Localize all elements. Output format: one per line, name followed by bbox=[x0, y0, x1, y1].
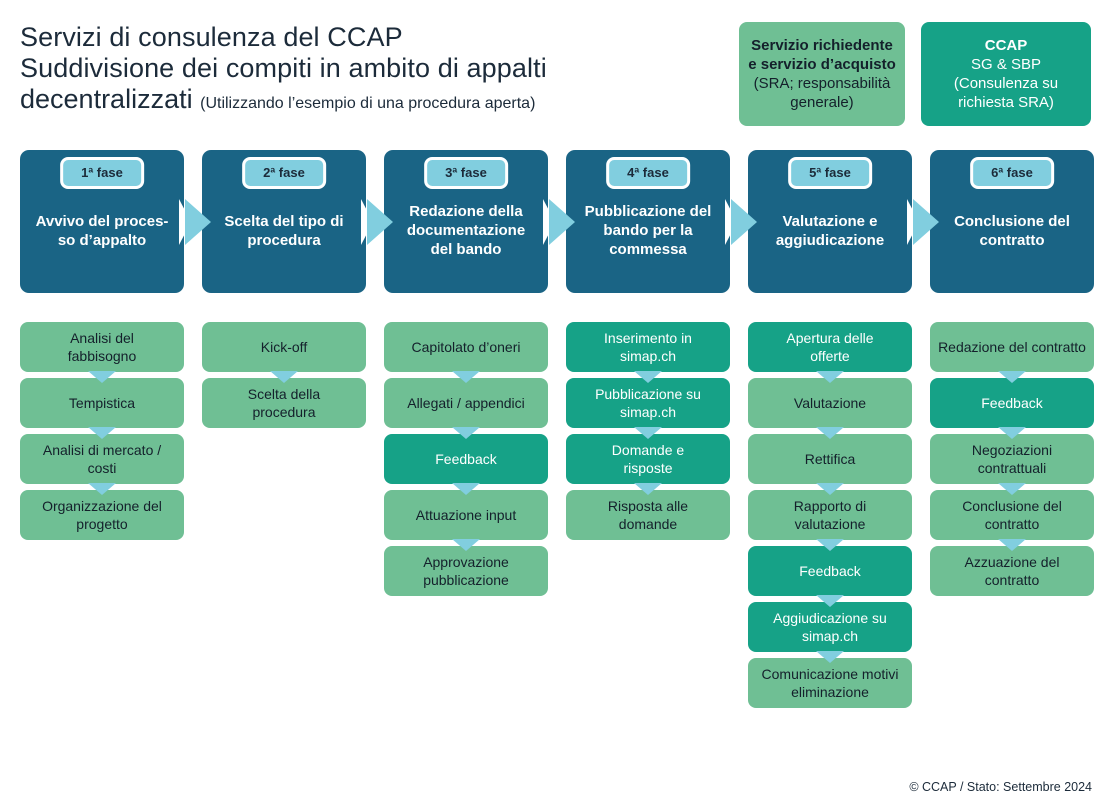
task-connector-down-arrow-icon bbox=[88, 483, 116, 495]
task-label: Risposta alledomande bbox=[608, 497, 688, 533]
task-connector-down-arrow-icon bbox=[88, 371, 116, 383]
task-box[interactable]: Scelta dellaprocedura bbox=[202, 378, 366, 428]
task-label-line: Allegati / appendici bbox=[407, 394, 525, 412]
task-label-line: Attuazione input bbox=[416, 506, 516, 524]
task-label-line: valutazione bbox=[794, 515, 866, 533]
task-label-line: Rapporto di bbox=[794, 497, 866, 515]
task-label-line: Pubblicazione su bbox=[595, 385, 701, 403]
task-label: Domande erisposte bbox=[612, 441, 684, 477]
phase-badge-6: 6ª fase bbox=[970, 157, 1054, 189]
task-label-line: contratto bbox=[962, 515, 1062, 533]
task-box[interactable]: Pubblicazione susimap.ch bbox=[566, 378, 730, 428]
title-line-1: Servizi di consulenza del CCAP bbox=[20, 22, 720, 53]
phase-title-line: Avvivo del proces- bbox=[36, 212, 169, 231]
task-label-line: Approvazione bbox=[423, 553, 509, 571]
task-connector-down-arrow-icon bbox=[270, 371, 298, 383]
task-label: Approvazionepubblicazione bbox=[423, 553, 509, 589]
task-label-line: offerte bbox=[786, 347, 873, 365]
task-box[interactable]: Allegati / appendici bbox=[384, 378, 548, 428]
phase-title-line: Conclusione del bbox=[954, 212, 1070, 231]
task-label-line: Conclusione del bbox=[962, 497, 1062, 515]
task-connector-down-arrow-icon bbox=[452, 483, 480, 495]
task-list-4: Inserimento insimap.chPubblicazione susi… bbox=[566, 322, 730, 546]
task-label: Redazione del contratto bbox=[938, 338, 1086, 356]
task-label-line: Tempistica bbox=[69, 394, 135, 412]
task-label-line: Valutazione bbox=[794, 394, 866, 412]
phase-badge-4: 4ª fase bbox=[606, 157, 690, 189]
task-label-line: eliminazione bbox=[762, 683, 899, 701]
task-label: Apertura delleofferte bbox=[786, 329, 873, 365]
header: Servizi di consulenza del CCAP Suddivisi… bbox=[0, 0, 1114, 150]
legend-ccap-line3: (Consulenza su bbox=[954, 74, 1058, 93]
task-label-line: progetto bbox=[42, 515, 162, 533]
task-label-line: Feedback bbox=[981, 394, 1042, 412]
task-label-line: Scelta della bbox=[248, 385, 320, 403]
task-box[interactable]: Inserimento insimap.ch bbox=[566, 322, 730, 372]
legend-requesting-line4: generale) bbox=[790, 93, 853, 112]
task-label: Feedback bbox=[981, 394, 1042, 412]
phase-badge-2: 2ª fase bbox=[242, 157, 326, 189]
phase-badge-5: 5ª fase bbox=[788, 157, 872, 189]
task-label: Analisi delfabbisogno bbox=[68, 329, 137, 365]
task-connector-down-arrow-icon bbox=[452, 371, 480, 383]
task-list-6: Redazione del contrattoFeedbackNegoziazi… bbox=[930, 322, 1094, 602]
task-box[interactable]: Rettifica bbox=[748, 434, 912, 484]
phase-connector-arrow-icon bbox=[913, 199, 939, 245]
phase-box-3[interactable]: 3ª faseRedazione delladocumentazionedel … bbox=[384, 150, 548, 293]
task-label-line: Comunicazione motivi bbox=[762, 665, 899, 683]
task-connector-down-arrow-icon bbox=[452, 539, 480, 551]
task-label: Scelta dellaprocedura bbox=[248, 385, 320, 421]
task-box[interactable]: Analisi di mercato /costi bbox=[20, 434, 184, 484]
task-connector-down-arrow-icon bbox=[88, 427, 116, 439]
task-label-line: simap.ch bbox=[773, 627, 887, 645]
phase-box-6[interactable]: 6ª faseConclusione delcontratto bbox=[930, 150, 1094, 293]
phase-badge-3: 3ª fase bbox=[424, 157, 508, 189]
task-label-line: pubblicazione bbox=[423, 571, 509, 589]
phase-title-line: so d’appalto bbox=[36, 231, 169, 250]
phase-title-6: Conclusione delcontratto bbox=[954, 212, 1070, 250]
legend-requesting-line2: e servizio d’acquisto bbox=[748, 55, 896, 74]
task-box[interactable]: Domande erisposte bbox=[566, 434, 730, 484]
task-box[interactable]: Azzuazione delcontratto bbox=[930, 546, 1094, 596]
legend-ccap-line1: CCAP bbox=[985, 36, 1028, 55]
task-connector-down-arrow-icon bbox=[998, 483, 1026, 495]
legend-requesting-service: Servizio richiedente e servizio d’acquis… bbox=[739, 22, 905, 126]
legend-ccap: CCAP SG & SBP (Consulenza su richiesta S… bbox=[921, 22, 1091, 126]
task-label: Comunicazione motivieliminazione bbox=[762, 665, 899, 701]
task-box[interactable]: Analisi delfabbisogno bbox=[20, 322, 184, 372]
task-label-line: Feedback bbox=[435, 450, 496, 468]
task-box[interactable]: Comunicazione motivieliminazione bbox=[748, 658, 912, 708]
task-label: Capitolato d’oneri bbox=[412, 338, 521, 356]
task-list-2: Kick-offScelta dellaprocedura bbox=[202, 322, 366, 434]
task-box[interactable]: Kick-off bbox=[202, 322, 366, 372]
title-line-2: Suddivisione dei compiti in ambito di ap… bbox=[20, 53, 720, 84]
task-label-line: simap.ch bbox=[604, 347, 692, 365]
task-box[interactable]: Aggiudicazione susimap.ch bbox=[748, 602, 912, 652]
task-box[interactable]: Organizzazione delprogetto bbox=[20, 490, 184, 540]
task-label-line: Analisi del bbox=[68, 329, 137, 347]
legend-requesting-line1: Servizio richiedente bbox=[751, 36, 893, 55]
phase-connector-arrow-icon bbox=[367, 199, 393, 245]
footer-copyright: © CCAP / Stato: Settembre 2024 bbox=[909, 780, 1092, 794]
task-label: Rettifica bbox=[805, 450, 856, 468]
task-connector-down-arrow-icon bbox=[452, 427, 480, 439]
task-connector-down-arrow-icon bbox=[998, 427, 1026, 439]
phase-box-2[interactable]: 2ª faseScelta del tipo diprocedura bbox=[202, 150, 366, 293]
task-box[interactable]: Tempistica bbox=[20, 378, 184, 428]
phase-column-5: 5ª faseValutazione eaggiudicazioneApertu… bbox=[748, 150, 912, 293]
task-box[interactable]: Feedback bbox=[384, 434, 548, 484]
phase-column-1: 1ª faseAvvivo del proces-so d’appaltoAna… bbox=[20, 150, 184, 293]
task-connector-down-arrow-icon bbox=[816, 651, 844, 663]
task-connector-down-arrow-icon bbox=[816, 595, 844, 607]
task-connector-down-arrow-icon bbox=[816, 427, 844, 439]
legend-requesting-line3: (SRA; responsabilità bbox=[754, 74, 891, 93]
task-box[interactable]: Conclusione delcontratto bbox=[930, 490, 1094, 540]
phase-title-line: Valutazione e bbox=[776, 212, 884, 231]
task-label-line: simap.ch bbox=[595, 403, 701, 421]
phase-box-5[interactable]: 5ª faseValutazione eaggiudicazione bbox=[748, 150, 912, 293]
task-box[interactable]: Capitolato d’oneri bbox=[384, 322, 548, 372]
task-label-line: Redazione del contratto bbox=[938, 338, 1086, 356]
task-box[interactable]: Rapporto divalutazione bbox=[748, 490, 912, 540]
task-label-line: Aggiudicazione su bbox=[773, 609, 887, 627]
task-box[interactable]: Risposta alledomande bbox=[566, 490, 730, 540]
task-label-line: costi bbox=[43, 459, 161, 477]
phase-title-2: Scelta del tipo diprocedura bbox=[224, 212, 343, 250]
page-title: Servizi di consulenza del CCAP Suddivisi… bbox=[20, 22, 720, 119]
task-label-line: procedura bbox=[248, 403, 320, 421]
task-box[interactable]: Redazione del contratto bbox=[930, 322, 1094, 372]
task-label: Feedback bbox=[799, 562, 860, 580]
task-connector-down-arrow-icon bbox=[998, 539, 1026, 551]
task-label: Kick-off bbox=[261, 338, 307, 356]
task-box[interactable]: Feedback bbox=[930, 378, 1094, 428]
task-label-line: Apertura delle bbox=[786, 329, 873, 347]
task-label: Aggiudicazione susimap.ch bbox=[773, 609, 887, 645]
task-label: Valutazione bbox=[794, 394, 866, 412]
task-box[interactable]: Negoziazionicontrattuali bbox=[930, 434, 1094, 484]
task-box[interactable]: Valutazione bbox=[748, 378, 912, 428]
phase-column-3: 3ª faseRedazione delladocumentazionedel … bbox=[384, 150, 548, 293]
task-label: Pubblicazione susimap.ch bbox=[595, 385, 701, 421]
legend-ccap-line4: richiesta SRA) bbox=[958, 93, 1054, 112]
task-box[interactable]: Approvazionepubblicazione bbox=[384, 546, 548, 596]
task-label-line: contrattuali bbox=[972, 459, 1052, 477]
phase-connector-arrow-icon bbox=[549, 199, 575, 245]
phase-title-line: Pubblicazione del bbox=[585, 202, 712, 221]
phase-column-4: 4ª fasePubblicazione delbando per lacomm… bbox=[566, 150, 730, 293]
title-subnote: (Utilizzando l’esempio di una procedura … bbox=[200, 95, 535, 112]
phase-title-line: del bando bbox=[407, 240, 525, 259]
task-label: Rapporto divalutazione bbox=[794, 497, 866, 533]
phase-title-line: contratto bbox=[954, 231, 1070, 250]
phase-box-4[interactable]: 4ª fasePubblicazione delbando per lacomm… bbox=[566, 150, 730, 293]
task-label-line: Risposta alle bbox=[608, 497, 688, 515]
task-connector-down-arrow-icon bbox=[998, 371, 1026, 383]
title-line-3-main: decentralizzati bbox=[20, 84, 193, 114]
phase-column-6: 6ª faseConclusione delcontrattoRedazione… bbox=[930, 150, 1094, 293]
task-label: Conclusione delcontratto bbox=[962, 497, 1062, 533]
task-label-line: Analisi di mercato / bbox=[43, 441, 161, 459]
phase-title-1: Avvivo del proces-so d’appalto bbox=[36, 212, 169, 250]
phase-title-3: Redazione delladocumentazionedel bando bbox=[407, 202, 525, 259]
task-label: Feedback bbox=[435, 450, 496, 468]
phase-title-line: procedura bbox=[224, 231, 343, 250]
task-label-line: Azzuazione del bbox=[965, 553, 1060, 571]
phase-title-line: aggiudicazione bbox=[776, 231, 884, 250]
task-label: Attuazione input bbox=[416, 506, 516, 524]
phase-connector-arrow-icon bbox=[731, 199, 757, 245]
phase-title-line: documentazione bbox=[407, 221, 525, 240]
task-box[interactable]: Attuazione input bbox=[384, 490, 548, 540]
task-label: Azzuazione delcontratto bbox=[965, 553, 1060, 589]
task-label-line: domande bbox=[608, 515, 688, 533]
task-label-line: Feedback bbox=[799, 562, 860, 580]
phase-box-1[interactable]: 1ª faseAvvivo del proces-so d’appalto bbox=[20, 150, 184, 293]
task-list-3: Capitolato d’oneriAllegati / appendiciFe… bbox=[384, 322, 548, 602]
phase-title-5: Valutazione eaggiudicazione bbox=[776, 212, 884, 250]
task-label-line: Domande e bbox=[612, 441, 684, 459]
task-label-line: Negoziazioni bbox=[972, 441, 1052, 459]
task-label-line: Organizzazione del bbox=[42, 497, 162, 515]
phase-title-line: commessa bbox=[585, 240, 712, 259]
task-list-5: Apertura delleofferteValutazioneRettific… bbox=[748, 322, 912, 714]
task-label: Inserimento insimap.ch bbox=[604, 329, 692, 365]
phase-title-4: Pubblicazione delbando per lacommessa bbox=[585, 202, 712, 259]
task-label: Organizzazione delprogetto bbox=[42, 497, 162, 533]
title-line-3: decentralizzati (Utilizzando l’esempio d… bbox=[20, 84, 720, 119]
task-connector-down-arrow-icon bbox=[634, 427, 662, 439]
task-box[interactable]: Apertura delleofferte bbox=[748, 322, 912, 372]
legend-ccap-line2: SG & SBP bbox=[971, 55, 1041, 74]
phase-connector-arrow-icon bbox=[185, 199, 211, 245]
task-label-line: risposte bbox=[612, 459, 684, 477]
phase-title-line: Redazione della bbox=[407, 202, 525, 221]
task-label-line: Rettifica bbox=[805, 450, 856, 468]
task-label: Allegati / appendici bbox=[407, 394, 525, 412]
task-connector-down-arrow-icon bbox=[634, 371, 662, 383]
task-label-line: Inserimento in bbox=[604, 329, 692, 347]
task-label-line: contratto bbox=[965, 571, 1060, 589]
task-connector-down-arrow-icon bbox=[816, 539, 844, 551]
phase-badge-1: 1ª fase bbox=[60, 157, 144, 189]
task-connector-down-arrow-icon bbox=[634, 483, 662, 495]
task-connector-down-arrow-icon bbox=[816, 371, 844, 383]
phase-title-line: bando per la bbox=[585, 221, 712, 240]
task-box[interactable]: Feedback bbox=[748, 546, 912, 596]
task-label-line: fabbisogno bbox=[68, 347, 137, 365]
phase-columns: 1ª faseAvvivo del proces-so d’appaltoAna… bbox=[0, 150, 1114, 770]
task-label: Tempistica bbox=[69, 394, 135, 412]
task-connector-down-arrow-icon bbox=[816, 483, 844, 495]
task-label: Negoziazionicontrattuali bbox=[972, 441, 1052, 477]
task-label-line: Capitolato d’oneri bbox=[412, 338, 521, 356]
task-list-1: Analisi delfabbisognoTempisticaAnalisi d… bbox=[20, 322, 184, 546]
task-label: Analisi di mercato /costi bbox=[43, 441, 161, 477]
task-label-line: Kick-off bbox=[261, 338, 307, 356]
phase-title-line: Scelta del tipo di bbox=[224, 212, 343, 231]
phase-column-2: 2ª faseScelta del tipo diproceduraKick-o… bbox=[202, 150, 366, 293]
